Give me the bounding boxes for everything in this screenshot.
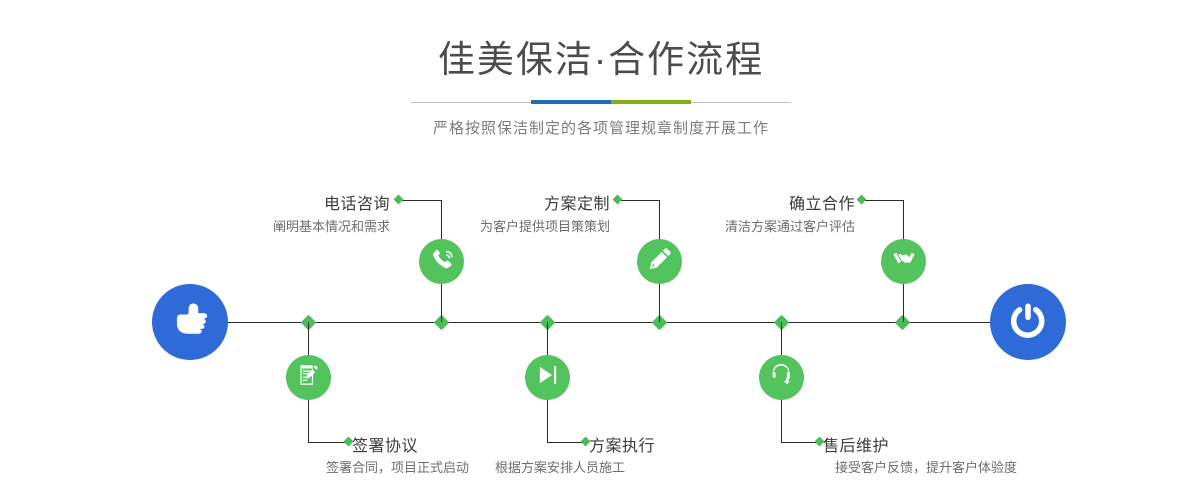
step-title-4: 方案执行 <box>589 432 655 456</box>
connector-horizontal-step-5 <box>862 200 904 201</box>
step-title-3: 方案定制 <box>380 190 610 214</box>
page-subtitle: 严格按照保洁制定的各项管理规章制度开展工作 <box>0 117 1202 138</box>
step-subtitle-1: 阐明基本情况和需求 <box>160 216 390 235</box>
phone-call-icon <box>429 246 455 277</box>
flow-start-endpoint <box>152 284 228 360</box>
node-icon-step-5 <box>881 239 926 284</box>
process-flow-diagram: 佳美保洁·合作流程 严格按照保洁制定的各项管理规章制度开展工作 <box>0 0 1202 502</box>
page-title: 佳美保洁·合作流程 <box>0 38 1202 82</box>
timeline-axis <box>152 322 1050 323</box>
title-divider <box>411 100 791 104</box>
step-subtitle-6: 接受客户反馈，提升客户体验度 <box>835 457 1017 476</box>
step-title-6: 售后维护 <box>823 432 889 456</box>
node-icon-step-3 <box>637 239 682 284</box>
step-subtitle-2: 签署合同，项目正式启动 <box>326 457 469 476</box>
step-subtitle-4: 根据方案安排人员施工 <box>495 457 625 476</box>
diagram-header: 佳美保洁·合作流程 严格按照保洁制定的各项管理规章制度开展工作 <box>0 0 1202 138</box>
customer-service-icon <box>769 362 795 393</box>
flow-end-endpoint <box>990 284 1066 360</box>
node-icon-step-6 <box>759 355 804 400</box>
step-title-2: 签署协议 <box>352 432 418 456</box>
sign-document-icon <box>296 362 322 393</box>
node-icon-step-4 <box>525 355 570 400</box>
label-marker-step-3 <box>613 195 623 205</box>
node-icon-step-1 <box>419 239 464 284</box>
connector-horizontal-step-2 <box>308 442 348 443</box>
connector-horizontal-step-6 <box>781 442 819 443</box>
pencil-ruler-icon <box>647 246 673 277</box>
pointing-hand-icon <box>168 298 212 347</box>
play-execute-icon <box>535 362 561 393</box>
label-marker-step-5 <box>857 195 867 205</box>
step-subtitle-3: 为客户提供项目策策划 <box>380 216 610 235</box>
step-title-5: 确立合作 <box>625 190 855 214</box>
step-title-1: 电话咨询 <box>160 190 390 214</box>
handshake-icon <box>891 246 917 277</box>
power-button-icon <box>1006 298 1050 347</box>
connector-horizontal-step-4 <box>547 442 585 443</box>
node-icon-step-2 <box>286 355 331 400</box>
divider-accent-green <box>611 100 691 104</box>
divider-accent-blue <box>531 100 611 104</box>
step-subtitle-5: 清洁方案通过客户评估 <box>625 216 855 235</box>
